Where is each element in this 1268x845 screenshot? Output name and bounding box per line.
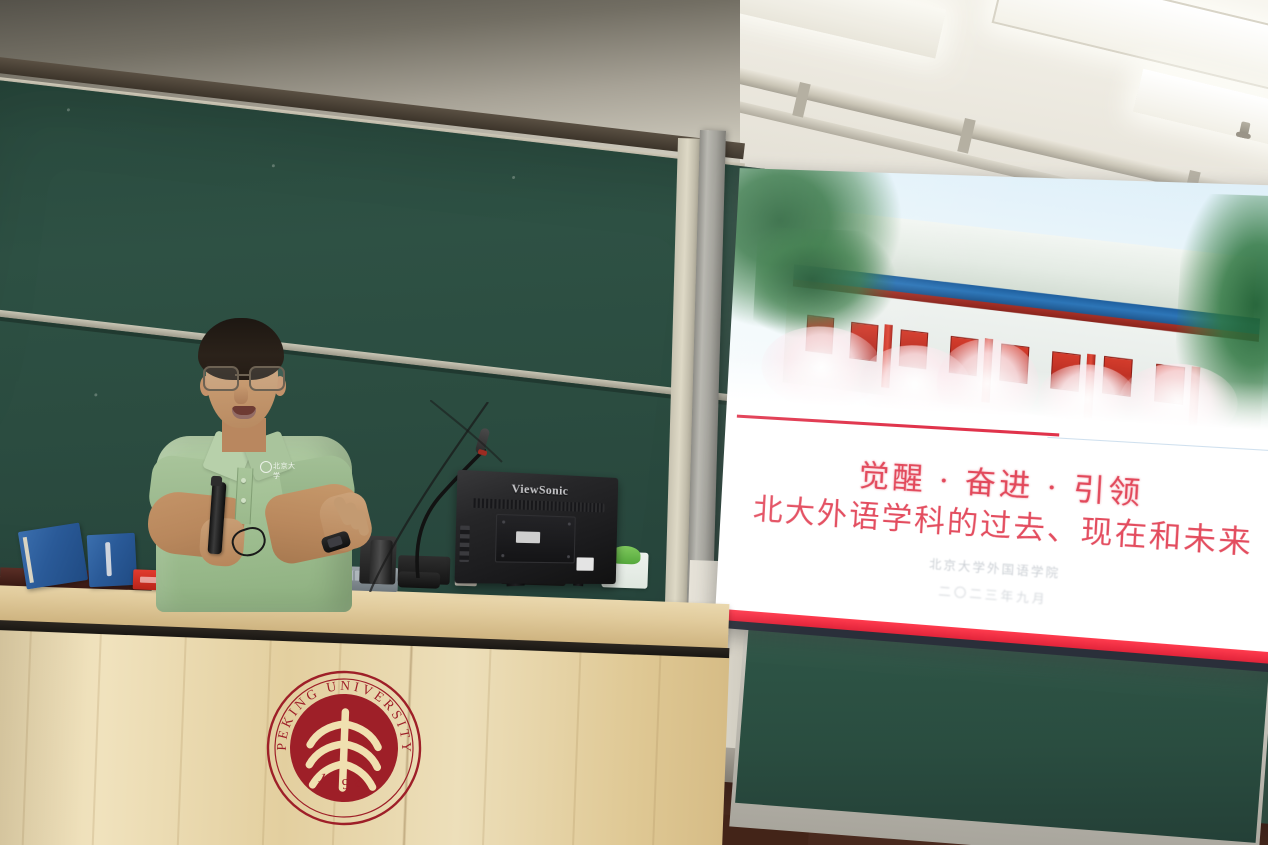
shirt-logo-icon: 北京大学 xyxy=(260,460,296,472)
photo-cherry-blossom xyxy=(935,337,1042,431)
monitor[interactable]: ViewSonic xyxy=(455,470,619,584)
chalkboard-main xyxy=(0,78,765,685)
speaker-mouth xyxy=(232,406,256,419)
monitor-screw xyxy=(502,520,505,523)
monitor-vesa-plate xyxy=(495,514,576,564)
photo-building-eave-red xyxy=(793,279,1259,344)
monitor-buttons[interactable] xyxy=(459,526,469,563)
photo-window xyxy=(999,344,1029,384)
monitor-barcode-label xyxy=(576,557,593,570)
speaker-arm-right xyxy=(262,479,370,567)
photo-pillar xyxy=(1188,366,1201,432)
speaker-arm-left xyxy=(145,489,247,561)
speaker-face xyxy=(206,342,278,428)
rail-bracket xyxy=(957,118,975,154)
monitor-screw xyxy=(568,522,571,525)
speaker-neck xyxy=(222,418,266,452)
photo-window xyxy=(899,329,929,369)
speaker-eyebrow xyxy=(250,361,276,366)
monitor-screw xyxy=(567,555,570,558)
speaker-finger xyxy=(332,495,355,527)
speaker-sleeve-right xyxy=(277,452,358,524)
rail-bracket xyxy=(792,82,810,118)
speaker-hand-left xyxy=(198,517,245,568)
photo-pine-tree xyxy=(726,168,910,340)
speaker-hair xyxy=(198,318,284,380)
photo-sky xyxy=(726,168,1268,441)
slide-body: 觉醒 · 奋进 · 引领 北大外语学科的过去、现在和未来 北京大学外国语学院 二… xyxy=(715,420,1268,652)
speaker-eyebrow xyxy=(206,361,232,367)
speaker-collar xyxy=(202,430,254,482)
photo-window xyxy=(1102,356,1133,397)
photo-cherry-blossom xyxy=(1036,362,1138,437)
speaker-hand-right xyxy=(316,489,376,555)
photo-cherry-blossom xyxy=(759,323,884,412)
photo-window xyxy=(806,315,835,354)
ceiling-right-section xyxy=(690,0,1268,185)
eyeglasses-icon xyxy=(202,366,284,388)
photo-building-body xyxy=(782,286,1265,441)
monitor-spec-label xyxy=(516,531,540,543)
monitor-vent xyxy=(471,498,604,512)
photo-window xyxy=(1050,351,1081,391)
photo-window xyxy=(1154,364,1185,405)
photo-building-roof xyxy=(799,207,1258,331)
laser-presenter-tip xyxy=(211,476,223,487)
photo-cherry-blossom xyxy=(857,343,973,427)
photo-pine-tree xyxy=(1170,193,1268,441)
photo-building-eave xyxy=(793,265,1260,337)
shirt-button xyxy=(241,498,246,503)
laser-presenter xyxy=(208,482,227,555)
lecture-hall-scene: 觉醒 · 奋进 · 引领 北大外语学科的过去、现在和未来 北京大学外国语学院 二… xyxy=(0,0,1268,845)
podium-shadow xyxy=(0,627,90,845)
speaker-ear xyxy=(200,376,212,396)
ceiling-light-panel xyxy=(1133,69,1268,165)
floor xyxy=(685,812,809,845)
photo-pillar xyxy=(1083,354,1095,420)
ceiling-light-panel xyxy=(992,0,1268,91)
monitor-screw xyxy=(501,554,504,557)
speaker-placket xyxy=(235,468,254,525)
chalk-speck xyxy=(272,164,275,167)
baseboard xyxy=(687,745,760,790)
speaker-finger xyxy=(344,501,364,531)
wristwatch xyxy=(320,530,352,554)
speaker-ear xyxy=(274,376,286,396)
speaker-sleeve-left xyxy=(146,453,231,528)
shirt-logo-text: 北京大学 xyxy=(273,461,296,481)
photo-cherry-blossom xyxy=(1117,361,1239,441)
photo-pillar xyxy=(981,339,993,404)
projection-screen[interactable]: 觉醒 · 奋进 · 引领 北大外语学科的过去、现在和未来 北京大学外国语学院 二… xyxy=(714,168,1268,673)
photo-window xyxy=(949,336,979,376)
slide-photo xyxy=(726,168,1268,441)
book[interactable] xyxy=(87,533,138,587)
held-eyeglasses-icon xyxy=(229,523,270,560)
book[interactable] xyxy=(18,523,88,590)
fire-sprinkler-icon xyxy=(1238,121,1250,139)
chalk-speck xyxy=(512,176,515,179)
peking-university-seal: PEKING UNIVERSITY 1898 xyxy=(261,665,427,831)
speaker-collar xyxy=(242,430,293,481)
speaker-shirt xyxy=(156,436,352,612)
speaker-finger xyxy=(354,509,370,537)
chalk-speck xyxy=(94,393,97,396)
photo-pillar xyxy=(881,324,893,388)
chalk-speck xyxy=(67,108,70,111)
photo-window xyxy=(849,322,878,361)
shirt-button xyxy=(241,478,246,483)
monitor-brand-label: ViewSonic xyxy=(457,478,618,501)
floor xyxy=(691,780,1268,845)
speaker: 北京大学 xyxy=(150,318,380,598)
ceiling-light-panel xyxy=(614,0,947,58)
photo-pine-tree xyxy=(752,227,901,345)
speaker-nose xyxy=(234,386,248,404)
